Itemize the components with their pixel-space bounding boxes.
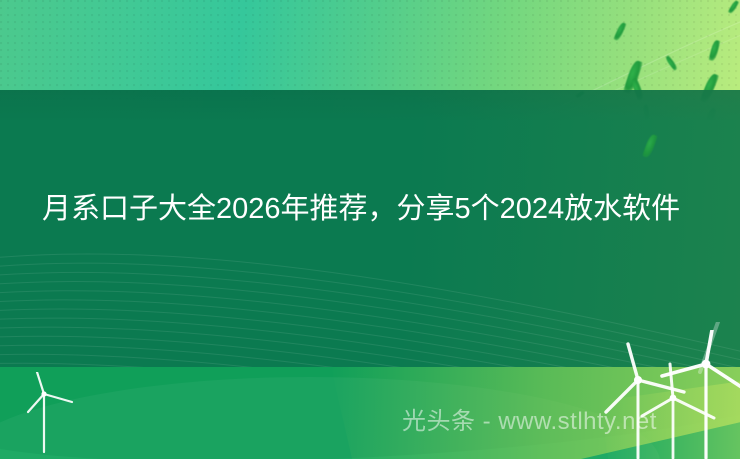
turbine-blade-streak (648, 322, 738, 374)
turbine-blade-streak-svg (648, 322, 738, 374)
wind-turbine-icon (22, 372, 78, 459)
watermark-text: 光头条 - www.stlhty.net (402, 407, 657, 437)
article-cover-banner: 月系口子大全2026年推荐，分享5个2024放水软件 光头条 - www.stl… (0, 0, 740, 459)
wind-turbine-svg (22, 372, 78, 454)
page-title: 月系口子大全2026年推荐，分享5个2024放水软件 (42, 186, 710, 233)
